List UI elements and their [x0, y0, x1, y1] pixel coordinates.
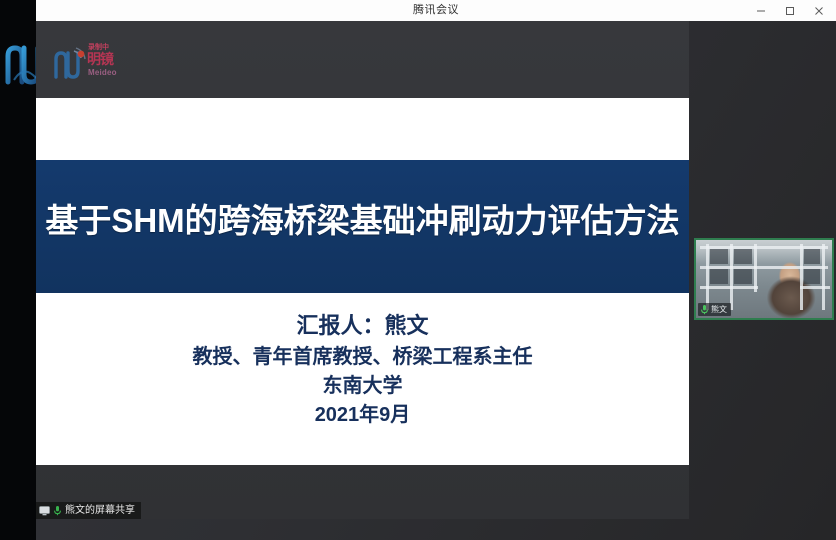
slide-title-band: 基于SHM的跨海桥梁基础冲刷动力评估方法	[36, 160, 689, 293]
window-title: 腾讯会议	[36, 3, 836, 17]
close-button[interactable]	[804, 0, 834, 21]
watermark-logo-icon	[54, 47, 88, 81]
slide-presenter: 汇报人：熊文	[36, 310, 689, 342]
screen-share-icon	[39, 506, 50, 516]
presentation-slide: 基于SHM的跨海桥梁基础冲刷动力评估方法 汇报人：熊文 教授、青年首席教授、桥梁…	[36, 98, 689, 465]
participant-name: 熊文	[711, 305, 727, 315]
shared-screen-view[interactable]: 录制中 明镜 Meideo 基于SHM的跨海桥梁基础冲刷动力评估方法 汇报人：熊…	[36, 21, 689, 519]
close-icon	[814, 6, 824, 16]
share-status-label: 熊文的屏幕共享	[65, 505, 135, 517]
slide-body: 汇报人：熊文 教授、青年首席教授、桥梁工程系主任 东南大学 2021年9月	[36, 310, 689, 430]
slide-date: 2021年9月	[36, 401, 689, 430]
watermark-brand-cn: 明镜	[87, 52, 113, 67]
tencent-meeting-window: 腾讯会议	[36, 0, 836, 540]
recording-watermark: 录制中 明镜 Meideo	[54, 43, 134, 87]
microphone-icon	[53, 505, 62, 516]
minimize-icon	[756, 6, 766, 16]
slide-organization: 东南大学	[36, 372, 689, 401]
participant-video-tile[interactable]: 熊文	[694, 238, 834, 320]
screen-share-status-bar: 熊文的屏幕共享	[36, 502, 141, 519]
maximize-icon	[785, 6, 795, 16]
slide-title: 基于SHM的跨海桥梁基础冲刷动力评估方法	[36, 200, 689, 242]
window-titlebar[interactable]: 腾讯会议	[36, 0, 836, 22]
slide-role: 教授、青年首席教授、桥梁工程系主任	[36, 342, 689, 372]
minimize-button[interactable]	[746, 0, 776, 21]
meeting-stage: 录制中 明镜 Meideo 基于SHM的跨海桥梁基础冲刷动力评估方法 汇报人：熊…	[36, 21, 836, 540]
watermark-brand-en: Meideo	[88, 68, 117, 77]
participant-name-badge: 熊文	[698, 303, 731, 316]
maximize-button[interactable]	[775, 0, 805, 21]
microphone-icon	[700, 304, 709, 315]
